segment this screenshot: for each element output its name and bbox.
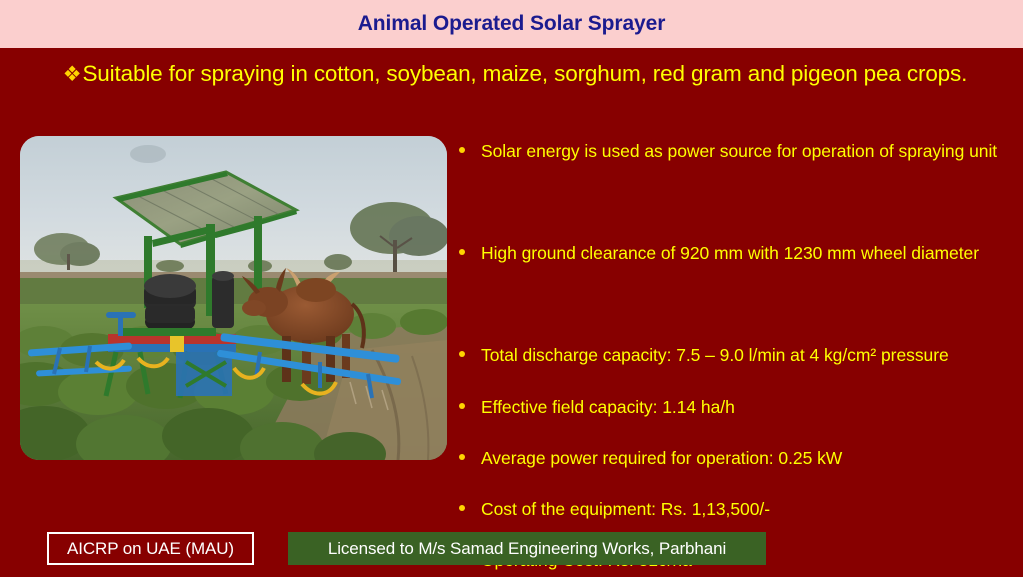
sprayer-photo (20, 136, 447, 460)
license-badge: Licensed to M/s Samad Engineering Works,… (288, 532, 766, 565)
bullet-dot-icon (459, 505, 465, 511)
spacer (455, 291, 1015, 343)
list-item-label: Cost of the equipment: Rs. 1,13,500/- (481, 499, 770, 519)
subtitle-text: Suitable for spraying in cotton, soybean… (82, 61, 967, 86)
list-item-label: High ground clearance of 920 mm with 123… (481, 243, 1015, 288)
bullet-dot-icon (459, 403, 465, 409)
spacer (455, 368, 1015, 395)
diamond-bullet-icon: ❖ (63, 63, 82, 86)
list-item: Effective field capacity: 1.14 ha/h (455, 395, 1015, 420)
sprayer-photo-illustration (20, 136, 447, 460)
bullet-dot-icon (459, 147, 465, 153)
spacer (455, 471, 1015, 497)
list-item-label: Effective field capacity: 1.14 ha/h (481, 397, 735, 417)
bullet-dot-icon (459, 351, 465, 357)
list-item: Total discharge capacity: 7.5 – 9.0 l/mi… (455, 343, 1015, 368)
list-item-label: Total discharge capacity: 7.5 – 9.0 l/mi… (481, 345, 949, 365)
list-item: Solar energy is used as power source for… (455, 139, 1015, 189)
slide-root: Animal Operated Solar Sprayer ❖Suitable … (0, 0, 1023, 577)
bullet-dot-icon (459, 249, 465, 255)
list-item-label: Average power required for operation: 0.… (481, 448, 842, 468)
spacer (455, 420, 1015, 446)
list-item: Average power required for operation: 0.… (455, 446, 1015, 471)
subtitle-line: ❖Suitable for spraying in cotton, soybea… (50, 57, 980, 91)
title-band: Animal Operated Solar Sprayer (0, 0, 1023, 48)
aicrp-badge: AICRP on UAE (MAU) (47, 532, 254, 565)
list-item: Cost of the equipment: Rs. 1,13,500/- (455, 497, 1015, 522)
page-title: Animal Operated Solar Sprayer (0, 0, 1023, 48)
specs-list: Solar energy is used as power source for… (455, 139, 1015, 573)
spacer (455, 189, 1015, 241)
bullet-dot-icon (459, 454, 465, 460)
list-item: High ground clearance of 920 mm with 123… (455, 241, 1015, 291)
list-item-label: Solar energy is used as power source for… (481, 141, 1015, 186)
